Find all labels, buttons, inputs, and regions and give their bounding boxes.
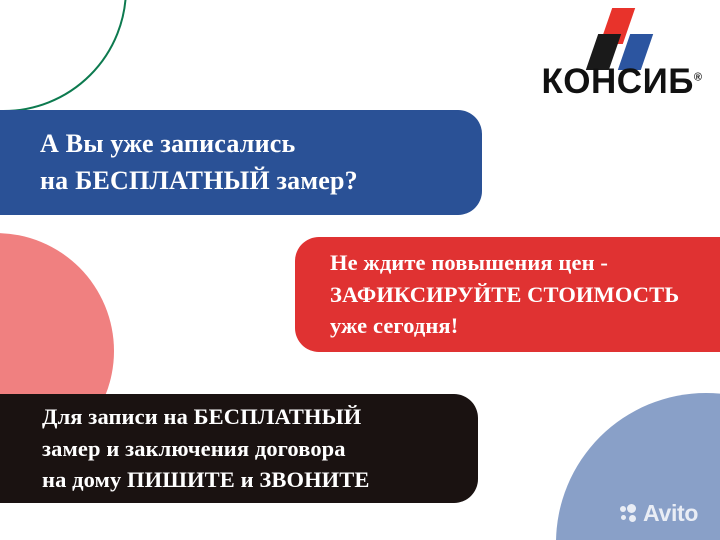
- brand-name-text: КОНСИБ: [541, 62, 693, 101]
- brand-wordmark: КОНСИБ®: [541, 64, 702, 99]
- headline-blue-line-1: А Вы уже записались: [40, 126, 458, 163]
- cta-black-line-2: замер и заключения договора: [42, 433, 458, 465]
- advertisement-canvas: КОНСИБ® А Вы уже записались на БЕСПЛАТНЫ…: [0, 0, 720, 540]
- cta-black-line-3: на дому ПИШИТЕ и ЗВОНИТЕ: [42, 464, 458, 496]
- logo-mark-icon: [584, 8, 650, 70]
- avito-dots-icon: [620, 504, 639, 523]
- brand-logo: КОНСИБ®: [532, 8, 702, 104]
- registered-trademark-icon: ®: [694, 71, 702, 83]
- offer-red-line-1: Не ждите повышения цен -: [330, 247, 720, 279]
- cta-black-line-1: Для записи на БЕСПЛАТНЫЙ: [42, 401, 458, 433]
- cta-banner-black: Для записи на БЕСПЛАТНЫЙ замер и заключе…: [0, 394, 478, 503]
- avito-watermark-label: Avito: [643, 502, 698, 525]
- headline-banner-blue: А Вы уже записались на БЕСПЛАТНЫЙ замер?: [0, 110, 482, 215]
- offer-banner-red: Не ждите повышения цен - ЗАФИКСИРУЙТЕ СТ…: [295, 237, 720, 352]
- decorative-green-circle-outline: [0, 0, 127, 112]
- offer-red-line-3: уже сегодня!: [330, 310, 720, 342]
- offer-red-line-2: ЗАФИКСИРУЙТЕ СТОИМОСТЬ: [330, 279, 720, 311]
- avito-watermark: Avito: [620, 502, 698, 525]
- headline-blue-line-2: на БЕСПЛАТНЫЙ замер?: [40, 163, 458, 200]
